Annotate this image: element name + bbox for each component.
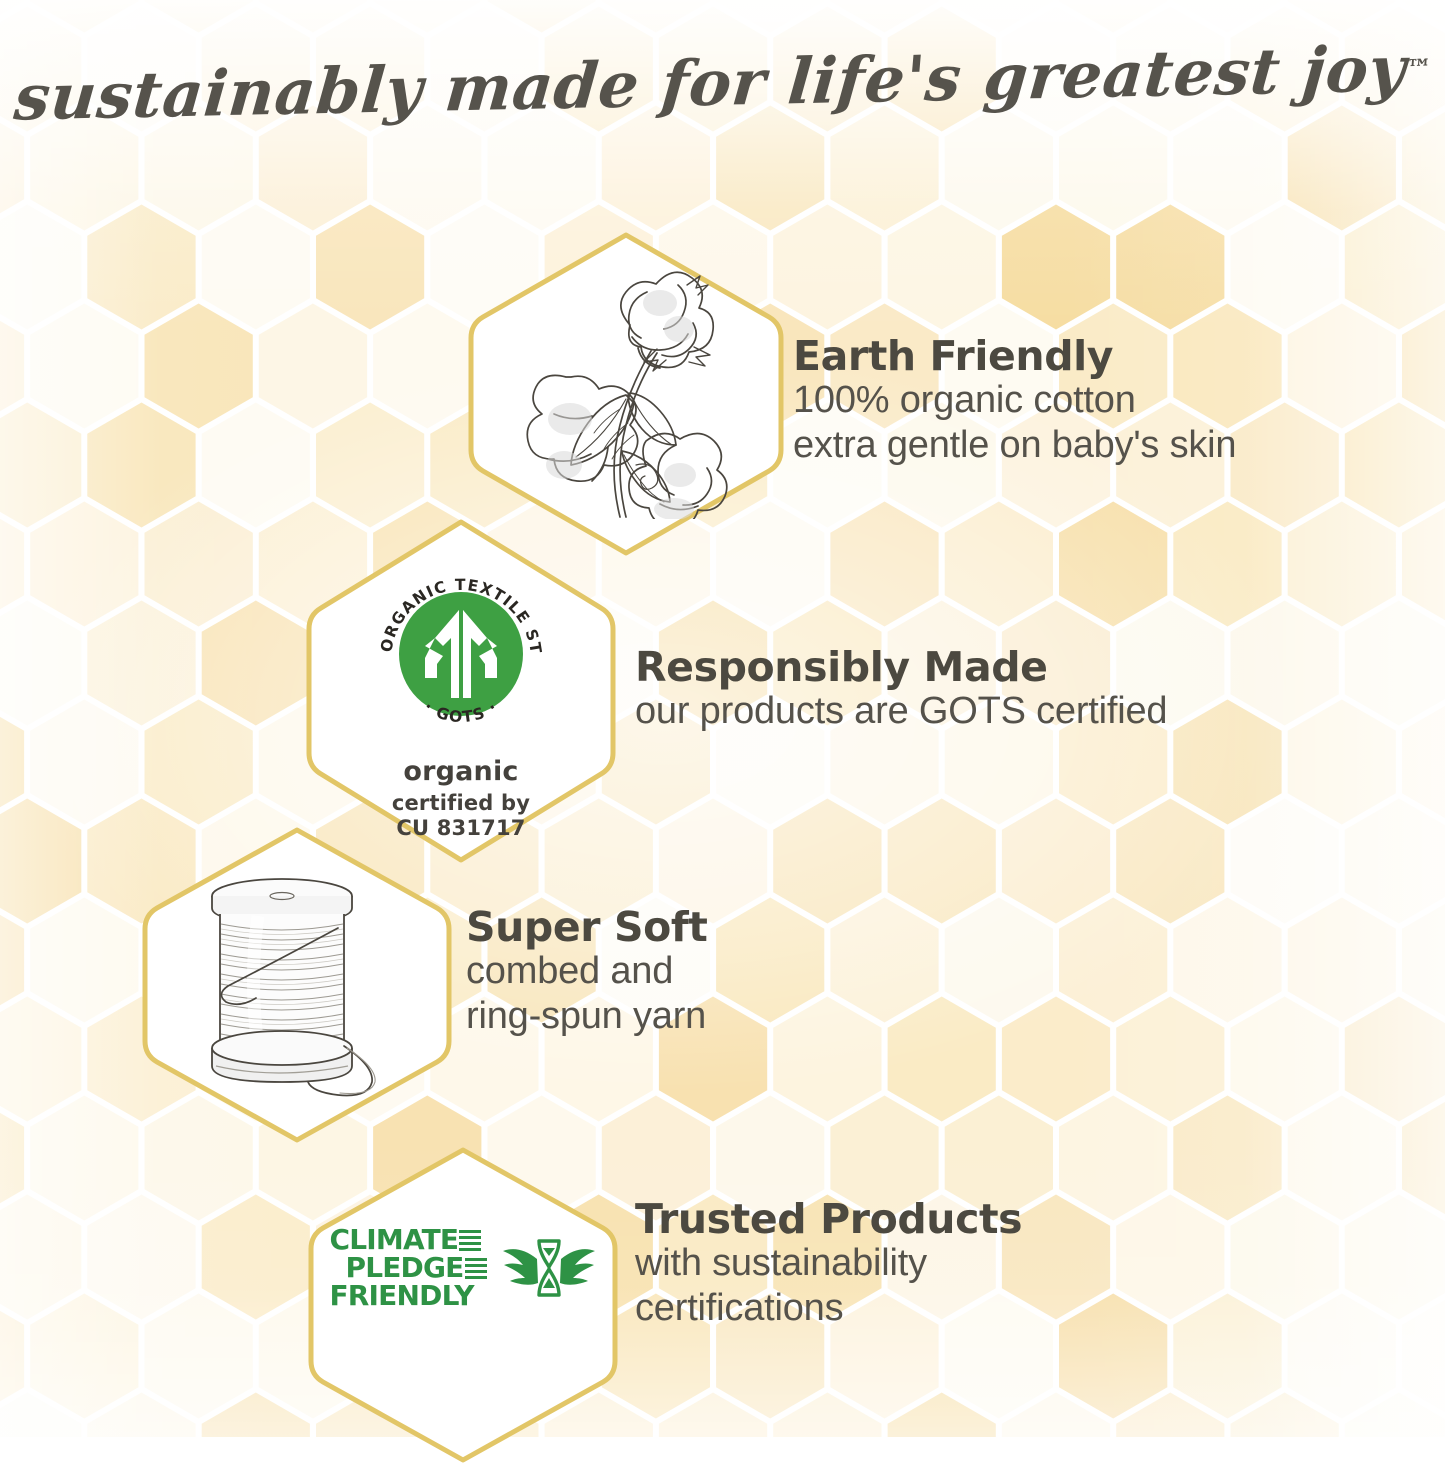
feature-line: combed and bbox=[466, 949, 966, 994]
feature-line: 100% organic cotton bbox=[793, 378, 1393, 423]
gots-certified-by-label: certified by bbox=[363, 791, 559, 816]
feature-line: with sustainability bbox=[635, 1241, 1235, 1286]
winged-hourglass-icon bbox=[501, 1229, 597, 1307]
feature-text-earth-friendly: Earth Friendly 100% organic cotton extra… bbox=[793, 334, 1393, 468]
gots-seal-icon: GLOBAL ORGANIC TEXTILE STANDARD · GOTS · bbox=[363, 554, 559, 750]
thread-spool-illustration bbox=[186, 870, 408, 1100]
hex-cell-earth-friendly bbox=[462, 228, 790, 560]
cpf-line-1: CLIMATE bbox=[329, 1226, 458, 1254]
gots-certification-logo: GLOBAL ORGANIC TEXTILE STANDARD · GOTS ·… bbox=[363, 554, 559, 841]
cpf-bars-icon bbox=[459, 1230, 481, 1251]
feature-line: our products are GOTS certified bbox=[635, 689, 1335, 734]
feature-title: Responsibly Made bbox=[635, 645, 1335, 689]
feature-line: ring-spun yarn bbox=[466, 994, 966, 1039]
feature-line: certifications bbox=[635, 1286, 1235, 1331]
cpf-line-3: FRIENDLY bbox=[329, 1282, 473, 1310]
hex-cell-responsibly-made: GLOBAL ORGANIC TEXTILE STANDARD · GOTS ·… bbox=[300, 516, 622, 866]
gots-organic-label: organic bbox=[363, 756, 559, 787]
climate-pledge-friendly-logo: CLIMATE PLEDGE FRIENDLY bbox=[329, 1226, 596, 1310]
cpf-line-2: PLEDGE bbox=[345, 1254, 463, 1282]
cpf-bars-icon bbox=[465, 1258, 487, 1279]
feature-line: extra gentle on baby's skin bbox=[793, 423, 1393, 468]
cotton-branch-illustration bbox=[508, 269, 744, 519]
hex-cell-super-soft bbox=[136, 824, 458, 1146]
feature-text-trusted-products: Trusted Products with sustainability cer… bbox=[635, 1197, 1235, 1331]
feature-title: Trusted Products bbox=[635, 1197, 1235, 1241]
page-headline: sustainably made for life's greatest joy… bbox=[0, 46, 1445, 120]
feature-text-responsibly-made: Responsibly Made our products are GOTS c… bbox=[635, 645, 1335, 734]
feature-text-super-soft: Super Soft combed and ring-spun yarn bbox=[466, 905, 966, 1039]
headline-text: sustainably made for life's greatest joy bbox=[11, 31, 1409, 134]
feature-title: Earth Friendly bbox=[793, 334, 1393, 378]
hex-cell-trusted-products: CLIMATE PLEDGE FRIENDLY bbox=[302, 1144, 624, 1466]
trademark-symbol: ™ bbox=[1405, 53, 1432, 83]
feature-title: Super Soft bbox=[466, 905, 966, 949]
